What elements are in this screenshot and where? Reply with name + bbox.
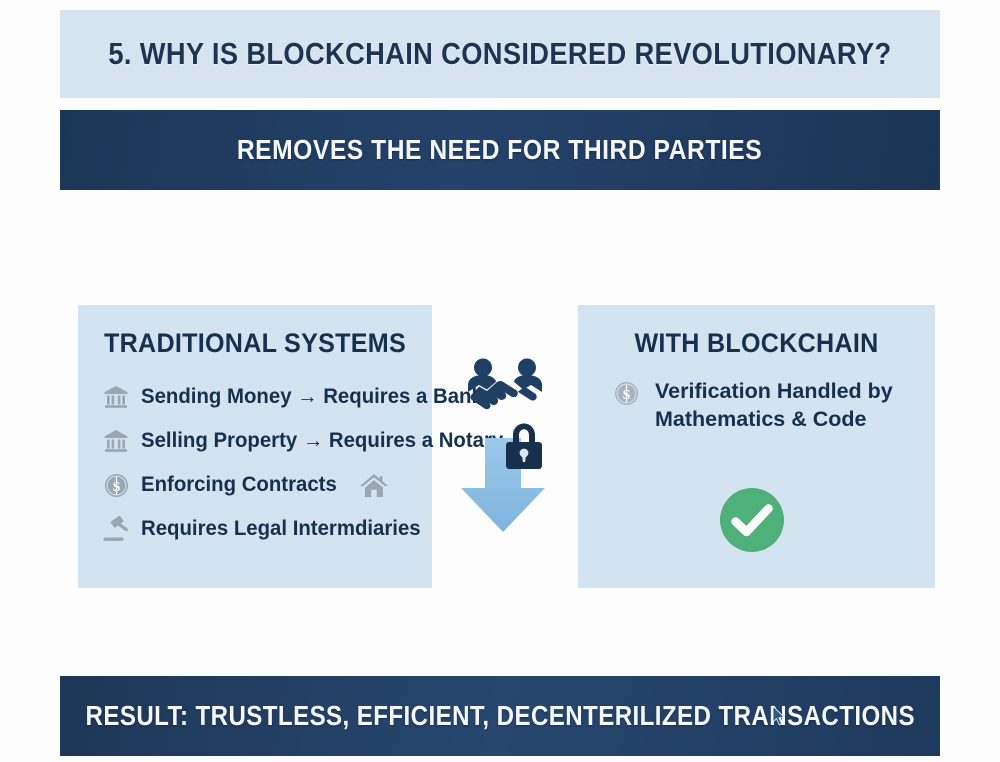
list-item: Selling Property → Requires a Notary (99, 419, 432, 463)
center-graphics-group (455, 358, 555, 538)
subtitle-banner: REMOVES THE NEED FOR THIRD PARTIES (60, 110, 940, 190)
list-item-label: Enforcing Contracts (141, 473, 337, 497)
list-item: S Enforcing Contracts (99, 463, 432, 507)
handshake-icon (463, 358, 547, 425)
title-banner-text: 5. WHY IS BLOCKCHAIN CONSIDERED REVOLUTI… (108, 36, 891, 72)
with-blockchain-list: S Verification Handled by Mathematics & … (578, 381, 935, 433)
list-item-label: Verification Handled by Mathematics & Co… (655, 377, 893, 433)
slide-canvas: 5. WHY IS BLOCKCHAIN CONSIDERED REVOLUTI… (0, 0, 1000, 762)
title-banner: 5. WHY IS BLOCKCHAIN CONSIDERED REVOLUTI… (60, 10, 940, 98)
list-item-label: Selling Property → Requires a Notary (141, 429, 503, 453)
traditional-systems-list: Sending Money → Requires a Bank (78, 375, 432, 551)
result-banner-text: RESULT: TRUSTLESS, EFFICIENT, DECENTERIL… (85, 700, 914, 732)
list-item: Requires Legal Intermdiaries (99, 507, 432, 551)
list-item-label-line1: Verification Handled by (655, 379, 893, 403)
result-banner: RESULT: TRUSTLESS, EFFICIENT, DECENTERIL… (60, 676, 940, 756)
traditional-systems-card: TRADITIONAL SYSTEMS Se (78, 305, 432, 588)
gavel-icon (99, 516, 133, 542)
dollar-coin-icon: S (609, 381, 643, 406)
list-item-label: Requires Legal Intermdiaries (141, 517, 421, 541)
bank-icon (99, 385, 133, 409)
with-blockchain-heading: WITH BLOCKCHAIN (590, 328, 922, 359)
padlock-icon (501, 421, 547, 476)
list-item: Sending Money → Requires a Bank (99, 375, 432, 419)
green-check-circle-icon (719, 487, 785, 553)
list-item-label: Sending Money → Requires a Bank (141, 385, 483, 409)
dollar-coin-icon: S (99, 473, 133, 498)
traditional-systems-heading: TRADITIONAL SYSTEMS (90, 328, 419, 359)
subtitle-banner-text: REMOVES THE NEED FOR THIRD PARTIES (237, 134, 762, 166)
house-icon (359, 472, 389, 499)
bank-icon (99, 429, 133, 453)
list-item-label-line2: Mathematics & Code (655, 407, 866, 431)
